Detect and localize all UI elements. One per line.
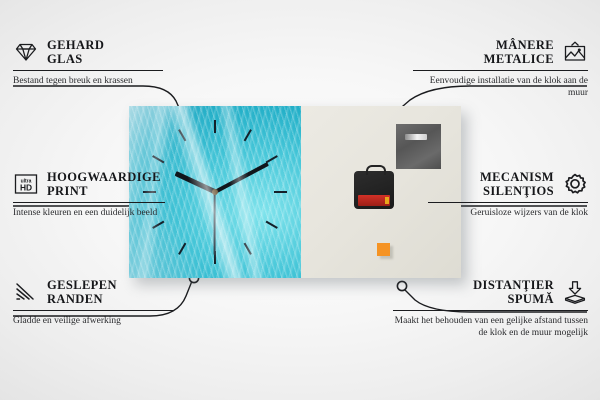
clock-tick [214,192,216,264]
feature-description: Eenvoudige installatie van de klok aan d… [413,75,588,99]
feature-hoogwaardige-print: ultra HD HOOGWAARDIGE PRINT Intense kleu… [13,170,165,219]
divider [428,202,588,203]
feature-title: DISTANŢIER SPUMĂ [393,278,554,306]
divider [413,70,588,71]
feature-header: GESLEPEN RANDEN [13,278,173,306]
feature-distantier-spuma: DISTANŢIER SPUMĂ Maakt het behouden van … [393,278,588,339]
feature-description: Bestand tegen breuk en krassen [13,75,163,87]
feature-header: MECANISM SILENŢIOS [428,170,588,198]
clock-second-hand [214,192,216,255]
feature-description: Maakt het behouden van een gelijke afsta… [393,315,588,339]
battery-terminal [385,197,389,204]
feature-description: Geruisloze wijzers van de klok [428,207,588,219]
feature-title: MÂNERE METALICE [413,38,554,66]
svg-text:HD: HD [20,182,32,192]
feature-title: GEHARD GLAS [47,38,104,66]
clock-tick [215,191,278,229]
infographic-canvas: GEHARD GLAS Bestand tegen breuk en krass… [0,0,600,400]
feature-header: ultra HD HOOGWAARDIGE PRINT [13,170,165,198]
picture-frame-hook-icon [562,39,588,65]
clock-tick [215,191,287,193]
divider [13,310,173,311]
clock-tick [214,129,252,192]
diagonal-lines-icon [13,279,39,305]
clock-center-pin [212,189,218,195]
feature-title: GESLEPEN RANDEN [47,278,117,306]
gear-icon [562,171,588,197]
clock-tick [178,129,216,192]
clock-tick [214,120,216,192]
feature-title: MECANISM SILENŢIOS [428,170,554,198]
feature-header: DISTANŢIER SPUMĂ [393,278,588,306]
clock-tick [215,155,278,193]
divider [13,70,163,71]
feature-description: Intense kleuren en een duidelijk beeld [13,207,165,219]
feature-description: Gladde en veilige afwerking [13,315,173,327]
clock-tick [214,192,252,255]
feature-mecanism-silentios: MECANISM SILENŢIOS Geruisloze wijzers va… [428,170,588,219]
feature-manere-metalice: MÂNERE METALICE Eenvoudige installatie v… [413,38,588,99]
product-photo [129,106,461,278]
hanger-slot [405,134,427,140]
feature-gehard-glas: GEHARD GLAS Bestand tegen breuk en krass… [13,38,163,87]
metal-hanger-plate [396,124,441,169]
feature-title: HOOGWAARDIGE PRINT [47,170,161,198]
hanging-loop [366,165,386,175]
clock-hour-hand [174,171,216,194]
arrow-down-slab-icon [562,279,588,305]
battery [358,195,390,206]
divider [393,310,588,311]
clock-tick [178,192,216,255]
foam-spacer [377,243,390,256]
feature-header: MÂNERE METALICE [413,38,588,66]
clock-minute-hand [214,162,269,194]
divider [13,202,165,203]
clock-mechanism [354,171,394,209]
ultra-hd-icon: ultra HD [13,171,39,197]
feature-header: GEHARD GLAS [13,38,163,66]
diamond-icon [13,39,39,65]
feature-geslepen-randen: GESLEPEN RANDEN Gladde en veilige afwerk… [13,278,173,327]
